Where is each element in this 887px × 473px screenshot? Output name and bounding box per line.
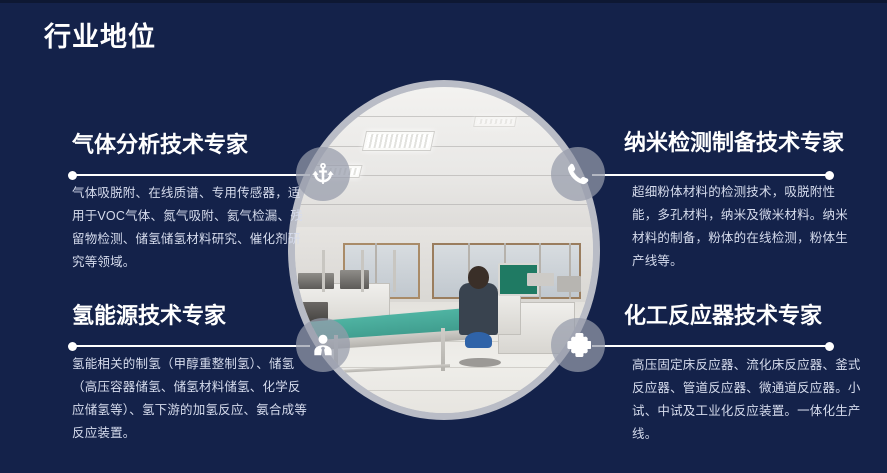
- lab-equipment: [527, 273, 554, 286]
- worker-head: [468, 266, 489, 289]
- industry-position-section: 行业地位: [0, 0, 887, 473]
- feature-body-reactor: 高压固定床反应器、流化床反应器、釜式反应器、管道反应器、微通道反应器。小试、中试…: [632, 354, 864, 445]
- feature-body-hydrogen: 氢能相关的制氢（甲醇重整制氢）、储氢（高压容器储氢、储氢材料储氢、化学反应储氢等…: [72, 353, 308, 444]
- page-title: 行业地位: [44, 20, 156, 55]
- feature-block-nano: 纳米检测制备技术专家 超细粉体材料的检测技术，吸脱附性能，多孔材料，纳米及微米材…: [632, 130, 884, 272]
- feature-title-reactor: 化工反应器技术专家: [624, 303, 884, 329]
- stool: [465, 332, 492, 348]
- feature-title-hydrogen: 氢能源技术专家: [72, 303, 324, 329]
- phone-icon-badge[interactable]: [551, 147, 605, 201]
- feature-title-nano: 纳米检测制备技术专家: [624, 130, 884, 156]
- phone-icon: [565, 161, 591, 187]
- ceiling-light: [473, 116, 517, 127]
- worker: [459, 283, 498, 335]
- lab-equipment: [340, 270, 370, 290]
- feature-block-reactor: 化工反应器技术专家 高压固定床反应器、流化床反应器、釜式反应器、管道反应器、微通…: [632, 303, 884, 445]
- lab-equipment: [298, 273, 334, 289]
- puzzle-icon: [565, 332, 591, 358]
- stool-base: [459, 358, 501, 368]
- lab-equipment: [557, 276, 581, 292]
- feature-title-gas: 气体分析技术专家: [72, 132, 324, 158]
- feature-block-gas: 气体分析技术专家 气体吸脱附、在线质谱、专用传感器，适用于VOC气体、氮气吸附、…: [72, 132, 324, 273]
- top-edge-strip: [0, 0, 887, 3]
- feature-block-hydrogen: 氢能源技术专家 氢能相关的制氢（甲醇重整制氢）、储氢（高压容器储氢、储氢材料储氢…: [72, 303, 324, 444]
- ceiling-light: [361, 131, 434, 151]
- puzzle-icon-badge[interactable]: [551, 318, 605, 372]
- feature-body-nano: 超细粉体材料的检测技术，吸脱附性能，多孔材料，纳米及微米材料。纳米材料的制备，粉…: [632, 181, 860, 272]
- feature-body-gas: 气体吸脱附、在线质谱、专用传感器，适用于VOC气体、氮气吸附、氦气检漏、残留物检…: [72, 182, 304, 273]
